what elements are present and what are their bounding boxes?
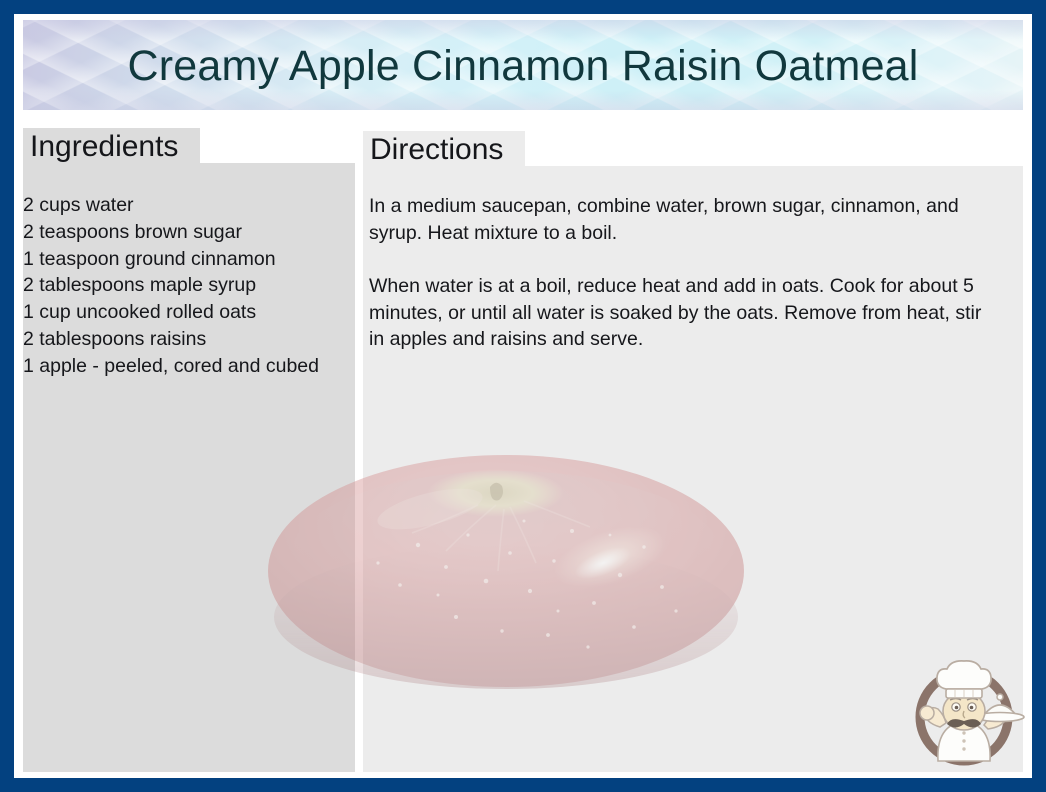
direction-step: When water is at a boil, reduce heat and…: [369, 273, 994, 353]
frame-border-top: [0, 0, 1046, 14]
directions-heading: Directions: [363, 135, 503, 165]
title-banner: Creamy Apple Cinnamon Raisin Oatmeal: [23, 20, 1023, 110]
list-item: 2 tablespoons raisins: [23, 326, 363, 353]
list-item: 2 cups water: [23, 192, 363, 219]
list-item: 1 cup uncooked rolled oats: [23, 299, 363, 326]
frame-border-left: [0, 0, 14, 792]
direction-step: In a medium saucepan, combine water, bro…: [369, 193, 994, 246]
list-item: 1 teaspoon ground cinnamon: [23, 246, 363, 273]
ingredients-header-tab: Ingredients: [23, 128, 200, 166]
directions-header-tab: Directions: [363, 131, 525, 169]
ingredients-heading: Ingredients: [23, 132, 178, 162]
ingredients-list: 2 cups water 2 teaspoons brown sugar 1 t…: [23, 192, 363, 380]
recipe-slide: Creamy Apple Cinnamon Raisin Oatmeal Ing…: [0, 0, 1046, 792]
list-item: 2 teaspoons brown sugar: [23, 219, 363, 246]
frame-border-bottom: [0, 778, 1046, 792]
frame-border-right: [1032, 0, 1046, 792]
chef-logo: [900, 645, 1028, 773]
directions-body: In a medium saucepan, combine water, bro…: [369, 193, 994, 353]
list-item: 2 tablespoons maple syrup: [23, 272, 363, 299]
page-title: Creamy Apple Cinnamon Raisin Oatmeal: [127, 45, 918, 88]
list-item: 1 apple - peeled, cored and cubed: [23, 353, 363, 380]
